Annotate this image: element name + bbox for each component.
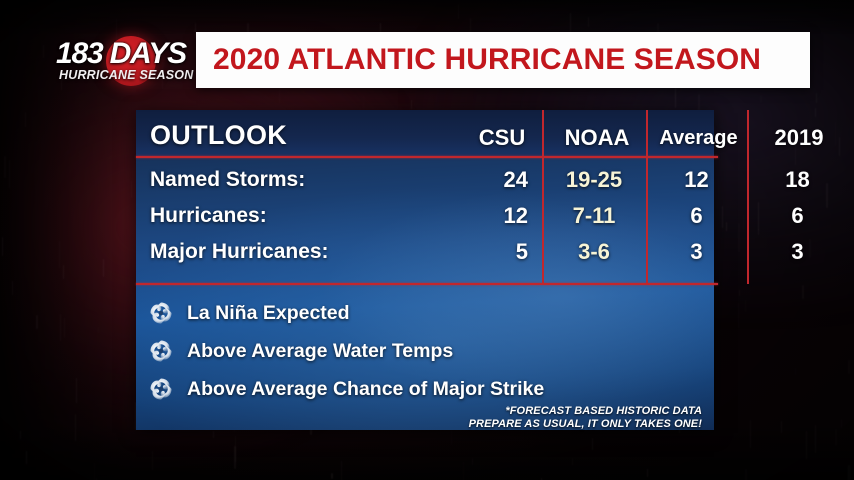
table-header-2019: 2019 [751,125,847,151]
bullet-list: La Niña Expected Above Average Water Tem… [136,288,714,430]
cell-csu-hurricanes: 12 [454,203,528,229]
column-divider-2019 [747,110,749,284]
outlook-panel: OUTLOOK CSU NOAA Average 2019 Named Stor… [136,110,714,430]
logo-main-text: 183 DAYS [56,39,204,69]
table-header-outlook: OUTLOOK [150,120,287,151]
title-bar: 2020 ATLANTIC HURRICANE SEASON [196,32,810,88]
list-item-label: Above Average Chance of Major Strike [187,378,544,401]
column-divider-noaa [542,110,544,284]
footnote-line-2: PREPARE AS USUAL, IT ONLY TAKES ONE! [182,418,702,431]
cell-average-major-hurricanes: 3 [650,239,743,265]
hurricane-spiral-icon [148,300,174,326]
cell-2019-hurricanes: 6 [751,203,844,229]
cell-2019-named-storms: 18 [751,167,844,193]
row-label-hurricanes: Hurricanes: [150,204,267,228]
header-band: 183 DAYS HURRICANE SEASON 2020 ATLANTIC … [0,30,854,96]
cell-2019-major-hurricanes: 3 [751,239,844,265]
cell-noaa-hurricanes: 7-11 [548,203,640,229]
list-item: Above Average Water Temps [148,338,453,364]
hurricane-spiral-icon [148,338,174,364]
column-divider-average [646,110,648,284]
cell-noaa-major-hurricanes: 3-6 [548,239,640,265]
cell-csu-major-hurricanes: 5 [454,239,528,265]
hurricane-season-logo: 183 DAYS HURRICANE SEASON [56,35,204,87]
page-title: 2020 ATLANTIC HURRICANE SEASON [213,43,761,77]
row-label-major-hurricanes: Major Hurricanes: [150,240,329,264]
hurricane-spiral-icon [148,376,174,402]
list-item-label: La Niña Expected [187,302,350,325]
cell-noaa-named-storms: 19-25 [548,167,640,193]
table-header-noaa: NOAA [548,125,646,151]
table-header-divider [136,156,718,158]
cell-csu-named-storms: 24 [454,167,528,193]
list-item: Above Average Chance of Major Strike [148,376,544,402]
cell-average-named-storms: 12 [650,167,743,193]
list-item: La Niña Expected [148,300,350,326]
table-bottom-divider [136,283,718,285]
table-header-average: Average [650,127,747,150]
list-item-label: Above Average Water Temps [187,340,453,363]
table-header-csu: CSU [466,125,538,151]
outlook-table: OUTLOOK CSU NOAA Average 2019 Named Stor… [136,110,714,284]
cell-average-hurricanes: 6 [650,203,743,229]
logo-sub-text: HURRICANE SEASON [59,69,207,82]
row-label-named-storms: Named Storms: [150,168,305,192]
footnote-line-1: *FORECAST BASED HISTORIC DATA [182,405,702,418]
